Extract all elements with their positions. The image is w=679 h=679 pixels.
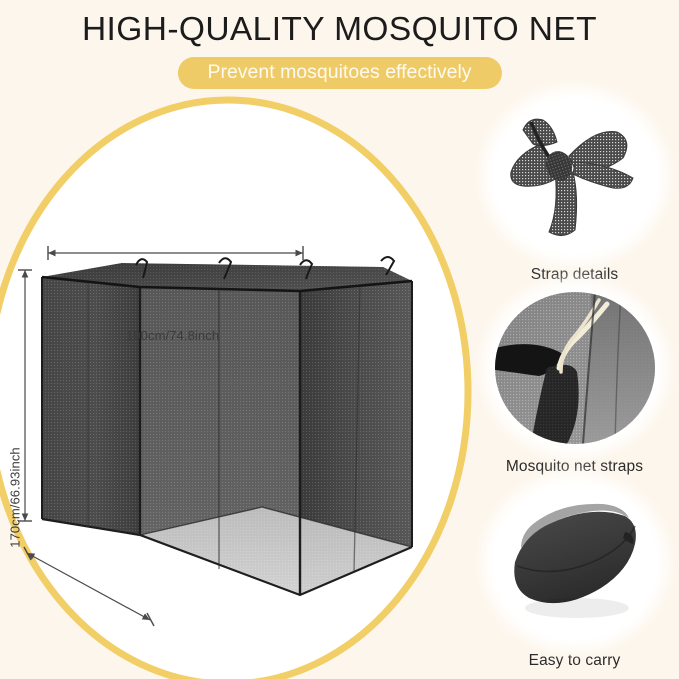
feature-caption-easy-to-carry: Easy to carry — [470, 652, 679, 670]
strap-details-thumbnail — [495, 100, 655, 252]
feature-item-net-straps: Mosquito net straps — [470, 292, 679, 476]
feature-caption-strap-details: Strap details — [470, 266, 679, 284]
header: HIGH-QUALITY MOSQUITO NET Prevent mosqui… — [0, 0, 679, 95]
feature-item-easy-to-carry: Easy to carry — [470, 486, 679, 670]
page-title: HIGH-QUALITY MOSQUITO NET — [0, 11, 679, 49]
easy-to-carry-thumbnail — [495, 486, 655, 638]
net-corner-tie-icon — [495, 292, 655, 444]
mesh-bow-knot-icon — [495, 100, 655, 252]
net-straps-thumbnail — [495, 292, 655, 444]
dimension-label-width: 190cm/74.8inch — [126, 328, 219, 343]
subtitle-badge: Prevent mosquitoes effectively — [177, 57, 501, 89]
feature-caption-net-straps: Mosquito net straps — [470, 458, 679, 476]
feature-item-strap-details: Strap details — [470, 100, 679, 284]
product-image-with-dimensions: 190cm/74.8inch 170cm/66.93inch 150cm/59.… — [0, 95, 470, 679]
product-infographic-page: HIGH-QUALITY MOSQUITO NET Prevent mosqui… — [0, 0, 679, 679]
folded-net-bundle-icon — [495, 486, 655, 638]
dimension-arrows — [0, 95, 470, 679]
feature-list: Strap details — [470, 100, 679, 679]
dimension-label-height: 170cm/66.93inch — [8, 438, 23, 558]
